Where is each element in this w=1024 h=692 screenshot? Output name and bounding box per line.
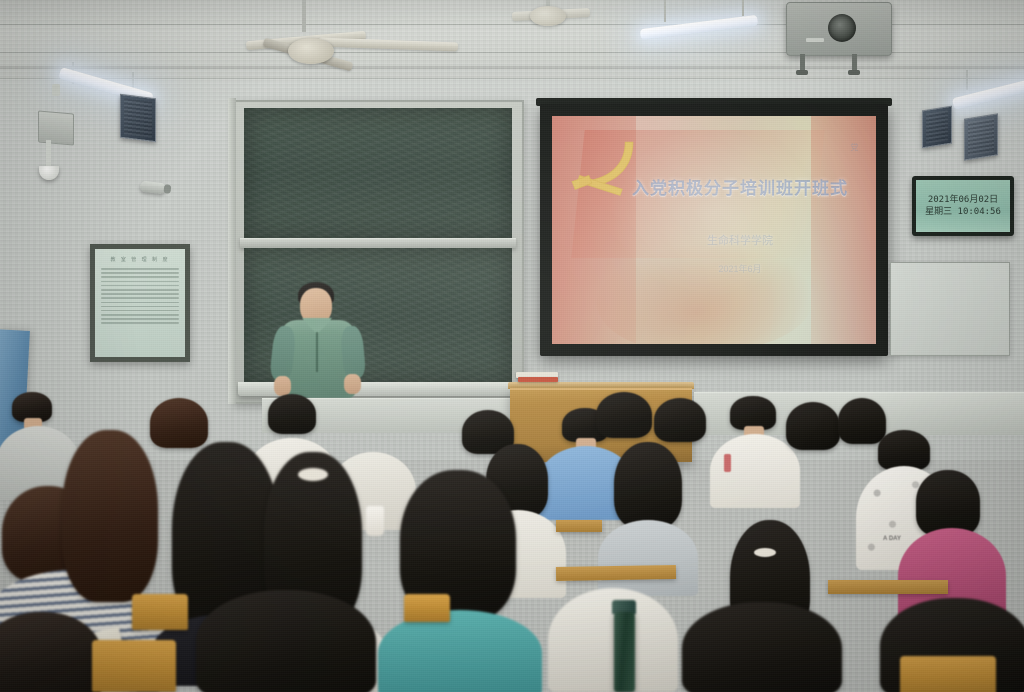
poster-title: 教 室 管 理 制 度 (101, 256, 179, 263)
chair-back (404, 594, 450, 622)
chair-back (92, 640, 176, 692)
wall-whiteboard (890, 262, 1010, 356)
desk-row (556, 520, 602, 532)
clock-date-line: 2021年06月02日 (928, 195, 998, 205)
wall-notice-poster: 教 室 管 理 制 度 (90, 244, 190, 362)
poster-body-lines (101, 268, 179, 324)
desk-row (828, 580, 948, 594)
blackboard-rail (240, 238, 516, 248)
wall-speaker-left (120, 96, 154, 138)
presenter (272, 282, 382, 412)
wall-speaker-right-b (964, 113, 998, 160)
clock-time-line: 星期三 10:04:56 (925, 207, 1001, 217)
hair-tie (754, 548, 776, 557)
student-teal (386, 470, 532, 692)
student-white-tee (712, 396, 798, 506)
wall-trim-band (0, 66, 1024, 69)
hair-scrunchie (298, 468, 328, 481)
student-front-head (682, 602, 842, 692)
student-white-right (548, 560, 678, 692)
presenter-arm-right (340, 325, 366, 379)
student-front-head (0, 612, 102, 692)
student-front-head (196, 590, 376, 692)
classroom-photo: 入党积极分子培训班开班式 生命科学学院 2021年6月 党 2021年06月02… (0, 0, 1024, 692)
wall-speaker-right-a (922, 106, 952, 149)
lanyard-badge (724, 454, 731, 472)
stacked-books (518, 377, 558, 382)
student-long-hair-left (56, 430, 166, 610)
slide-projection-wash (552, 116, 876, 344)
projector-mount-box (38, 110, 74, 145)
chair-back (900, 656, 996, 692)
digital-wall-clock: 2021年06月02日 星期三 10:04:56 (912, 176, 1014, 236)
presentation-slide: 入党积极分子培训班开班式 生命科学学院 2021年6月 党 (552, 116, 876, 344)
chair-back (132, 594, 188, 630)
paper-cup (366, 506, 384, 536)
